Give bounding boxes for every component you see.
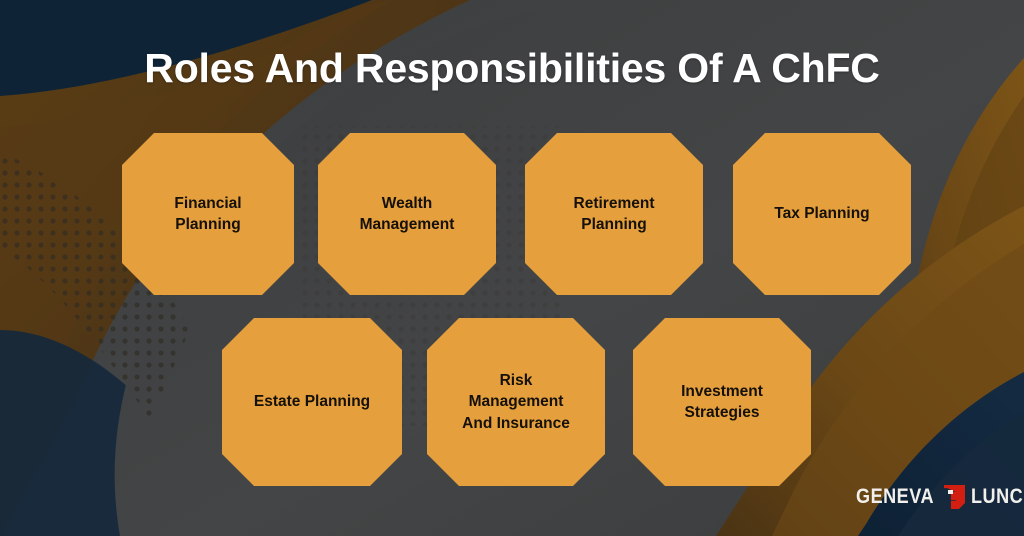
geneva-lunch-g-mark-icon [942,485,965,509]
card-estate-planning[interactable]: Estate Planning [222,318,402,486]
card-investment-strategies[interactable]: Investment Strategies [633,318,811,486]
card-label: Tax Planning [764,203,879,224]
card-wealth-management[interactable]: Wealth Management [318,133,496,295]
infographic-canvas: Roles And Responsibilities Of A ChFC Fin… [0,0,1024,536]
page-title: Roles And Responsibilities Of A ChFC [0,45,1024,92]
card-label: Retirement Planning [564,193,665,236]
card-label: Risk Management And Insurance [452,370,580,434]
brand-word-geneva: GENEVA [856,485,934,509]
card-label: Wealth Management [350,193,465,236]
brand-word-lunch: LUNCH [971,485,1024,509]
card-financial-planning[interactable]: Financial Planning [122,133,294,295]
brand-logo[interactable]: GENEVA LUNCH [856,482,1024,512]
card-label: Estate Planning [244,391,380,412]
card-risk-management-and-insurance[interactable]: Risk Management And Insurance [427,318,605,486]
card-label: Financial Planning [164,193,251,236]
card-tax-planning[interactable]: Tax Planning [733,133,911,295]
card-label: Investment Strategies [671,381,773,424]
card-retirement-planning[interactable]: Retirement Planning [525,133,703,295]
